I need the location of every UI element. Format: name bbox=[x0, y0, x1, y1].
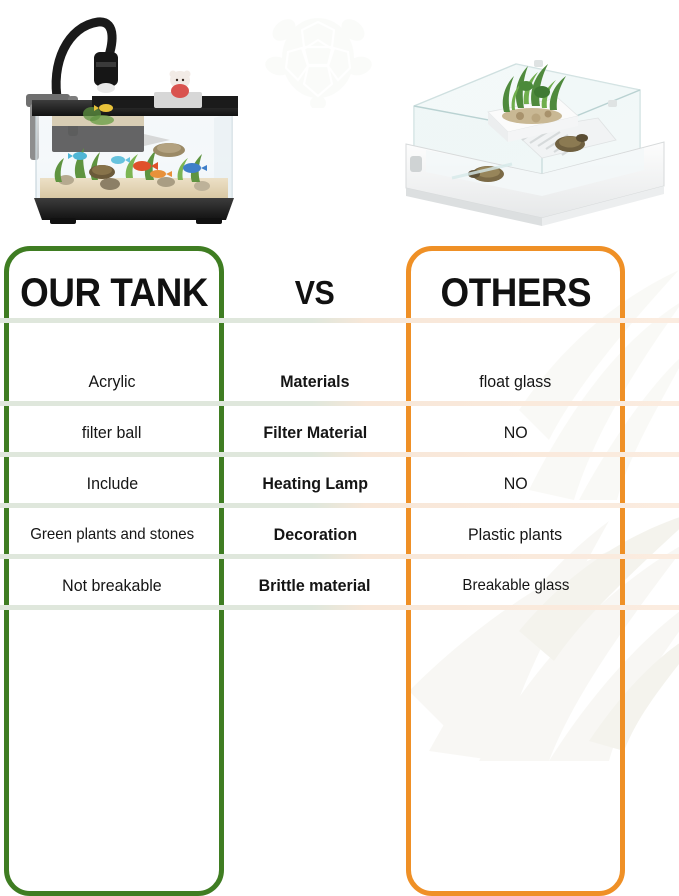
cell-text: Heating Lamp bbox=[262, 474, 368, 494]
row-separator bbox=[0, 318, 679, 323]
heading-vs: VS bbox=[224, 264, 406, 322]
cell-ours: filter ball bbox=[0, 407, 224, 458]
cell-text: Decoration bbox=[273, 525, 356, 545]
cell-text: Brittle material bbox=[259, 576, 371, 596]
our-tank-photo bbox=[6, 8, 296, 232]
cell-text: Materials bbox=[280, 372, 349, 392]
product-photos bbox=[0, 0, 679, 240]
table-row: Include Heating Lamp NO bbox=[0, 458, 679, 509]
cell-text: Not breakable bbox=[62, 576, 161, 596]
cell-text: Breakable glass bbox=[462, 577, 569, 595]
cell-ours: Green plants and stones bbox=[0, 509, 224, 560]
heading-others: OTHERS bbox=[406, 264, 625, 322]
table-row: filter ball Filter Material NO bbox=[0, 407, 679, 458]
comparison-table: OUR TANK VS OTHERS Acrylic Materials flo… bbox=[0, 240, 679, 660]
our-tank-title: OUR TANK bbox=[20, 271, 208, 316]
cell-text: filter ball bbox=[82, 423, 142, 443]
cell-feature: Brittle material bbox=[224, 560, 406, 611]
cell-others: float glass bbox=[406, 356, 625, 407]
table-row: Acrylic Materials float glass bbox=[0, 356, 679, 407]
cell-others: Plastic plants bbox=[406, 509, 625, 560]
cell-others: Breakable glass bbox=[406, 560, 625, 611]
cell-ours: Include bbox=[0, 458, 224, 509]
others-title: OTHERS bbox=[440, 271, 591, 316]
cell-feature: Heating Lamp bbox=[224, 458, 406, 509]
cell-text: Filter Material bbox=[263, 423, 367, 443]
cell-text: NO bbox=[504, 474, 528, 494]
cell-others: NO bbox=[406, 458, 625, 509]
cell-feature: Materials bbox=[224, 356, 406, 407]
cell-ours: Acrylic bbox=[0, 356, 224, 407]
vs-label: VS bbox=[295, 274, 335, 312]
table-row: Green plants and stones Decoration Plast… bbox=[0, 509, 679, 560]
cell-feature: Decoration bbox=[224, 509, 406, 560]
cell-text: Acrylic bbox=[88, 372, 135, 392]
heading-our-tank: OUR TANK bbox=[4, 264, 224, 322]
cell-text: Include bbox=[86, 474, 138, 494]
cell-text: Green plants and stones bbox=[30, 526, 194, 544]
cell-ours: Not breakable bbox=[0, 560, 224, 611]
cell-text: Plastic plants bbox=[468, 525, 562, 545]
cell-others: NO bbox=[406, 407, 625, 458]
others-tank-photo bbox=[392, 46, 678, 232]
table-row: Not breakable Brittle material Breakable… bbox=[0, 560, 679, 611]
cell-feature: Filter Material bbox=[224, 407, 406, 458]
cell-text: NO bbox=[504, 423, 528, 443]
cell-text: float glass bbox=[480, 372, 552, 392]
